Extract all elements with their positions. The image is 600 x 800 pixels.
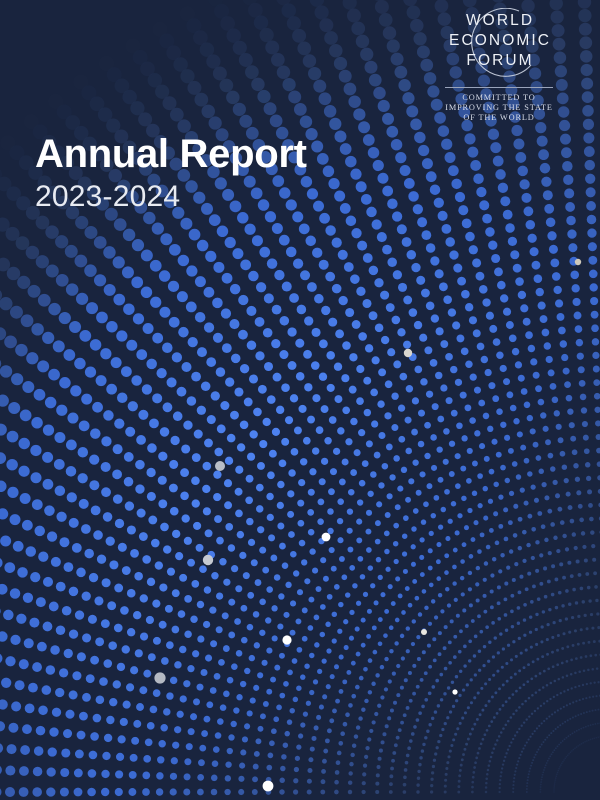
- logo-word-world: WORLD: [464, 11, 534, 31]
- title-block: Annual Report 2023-2024: [35, 131, 307, 217]
- logo-word-forum: FORUM: [464, 51, 533, 71]
- logo-wordmark: WORLD ECONOMIC FORUM: [424, 8, 574, 80]
- logo-tagline-line-1: COMMITTED TO: [424, 93, 574, 103]
- world-economic-forum-logo: WORLD ECONOMIC FORUM COMMITTED TO IMPROV…: [424, 8, 574, 124]
- report-cover: WORLD ECONOMIC FORUM COMMITTED TO IMPROV…: [0, 0, 600, 800]
- page-title: Annual Report: [35, 131, 307, 177]
- logo-divider-rule: [445, 87, 553, 88]
- page-subtitle: 2023-2024: [35, 177, 307, 217]
- logo-tagline-line-3: OF THE WORLD: [424, 113, 574, 123]
- logo-tagline-line-2: IMPROVING THE STATE: [424, 103, 574, 113]
- logo-mark: WORLD ECONOMIC FORUM: [424, 8, 574, 80]
- logo-word-economic: ECONOMIC: [447, 31, 551, 51]
